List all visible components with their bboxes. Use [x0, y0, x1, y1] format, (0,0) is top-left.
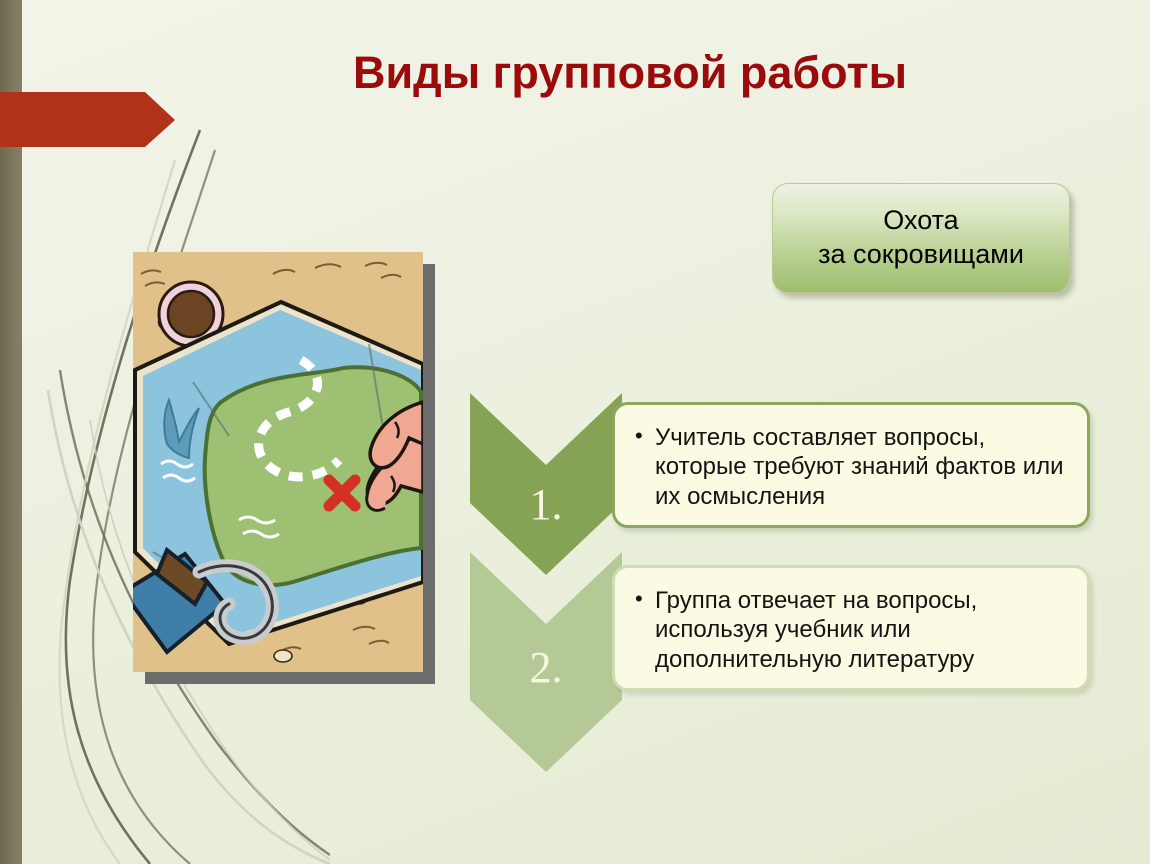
topic-label-line1: Охота [883, 205, 958, 235]
step-1-number: 1. [470, 479, 622, 530]
topic-label-text: Охота за сокровищами [818, 204, 1024, 272]
step-1-text: Учитель составляет вопросы, которые треб… [655, 423, 1067, 511]
step-1-chevron: 1. [470, 393, 622, 575]
treasure-map-image [133, 252, 423, 672]
page-title: Виды групповой работы [180, 48, 1080, 98]
step-2-list: Группа отвечает на вопросы, используя уч… [633, 586, 1067, 674]
presentation-slide: Виды групповой работы [0, 0, 1150, 864]
topic-label-box: Охота за сокровищами [772, 183, 1070, 293]
step-2-callout: Группа отвечает на вопросы, используя уч… [612, 565, 1090, 691]
topic-label-line2: за сокровищами [818, 239, 1024, 269]
step-2-text: Группа отвечает на вопросы, используя уч… [655, 586, 1067, 674]
step-1-callout: Учитель составляет вопросы, которые треб… [612, 402, 1090, 528]
red-arrow-banner [0, 92, 175, 147]
step-2-number: 2. [470, 642, 622, 693]
image-canvas [133, 252, 423, 672]
step-1-list: Учитель составляет вопросы, которые треб… [633, 423, 1067, 511]
step-2-chevron: 2. [470, 552, 622, 772]
